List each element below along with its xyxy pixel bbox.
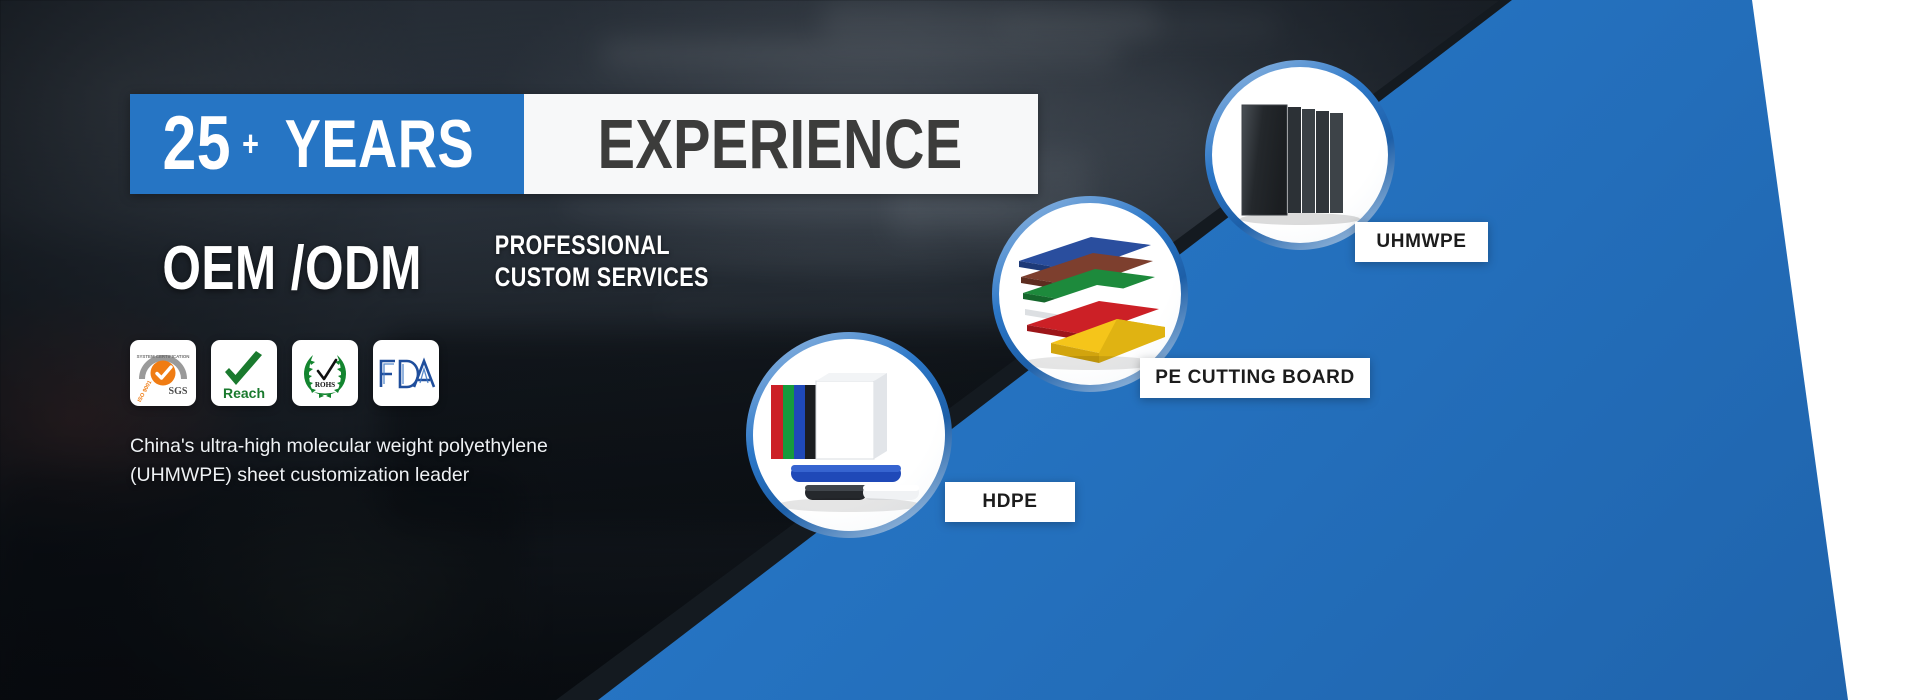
oem-odm-subtitle: PROFESSIONAL CUSTOM SERVICES xyxy=(468,230,736,299)
reach-badge: Reach xyxy=(211,340,277,406)
svg-text:ROHS: ROHS xyxy=(315,381,335,389)
experience-label: EXPERIENCE xyxy=(597,112,962,176)
uhmwpe-sheets-image xyxy=(1212,67,1388,243)
oem-odm-title: OEM /ODM xyxy=(162,240,421,299)
svg-text:Reach: Reach xyxy=(223,385,265,401)
oem-odm-block: OEM /ODM PROFESSIONAL CUSTOM SERVICES xyxy=(130,230,736,299)
years-label: YEARS xyxy=(285,113,474,176)
svg-text:ISO 9001: ISO 9001 xyxy=(137,380,153,403)
sgs-badge: SYSTEM CERTIFICATION ISO 9001 SGS xyxy=(130,340,196,406)
circle-inner xyxy=(753,339,945,531)
svg-text:SYSTEM CERTIFICATION: SYSTEM CERTIFICATION xyxy=(137,354,190,359)
fda-badge xyxy=(373,340,439,406)
hdpe-sheets-image xyxy=(753,339,945,531)
product-label-hdpe: HDPE xyxy=(945,482,1075,522)
product-label-uhmwpe: UHMWPE xyxy=(1355,222,1488,262)
fda-icon xyxy=(376,353,436,393)
circle-inner xyxy=(1212,67,1388,243)
sgs-icon: SYSTEM CERTIFICATION ISO 9001 SGS xyxy=(133,343,193,403)
years-badge: 25+YEARS xyxy=(130,94,524,194)
certification-badges: SYSTEM CERTIFICATION ISO 9001 SGS Reach xyxy=(130,340,439,406)
oem-odm-subtitle-line2: CUSTOM SERVICES xyxy=(495,262,709,294)
product-circle-hdpe xyxy=(746,332,952,538)
years-plus-sign: + xyxy=(242,126,259,162)
rohs-badge: ROHS xyxy=(292,340,358,406)
promo-banner: 25+YEARS EXPERIENCE OEM /ODM PROFESSIONA… xyxy=(0,0,1920,700)
experience-badge: EXPERIENCE xyxy=(524,94,1038,194)
years-experience-bar: 25+YEARS EXPERIENCE xyxy=(130,94,1038,194)
svg-text:SGS: SGS xyxy=(169,386,188,397)
rohs-icon: ROHS xyxy=(295,343,355,403)
banner-description: China's ultra-high molecular weight poly… xyxy=(130,432,600,490)
years-number: 25 xyxy=(163,109,231,179)
product-label-pe-cutting-board: PE CUTTING BOARD xyxy=(1140,358,1370,398)
oem-odm-subtitle-line1: PROFESSIONAL xyxy=(495,230,709,262)
reach-icon: Reach xyxy=(215,344,273,402)
